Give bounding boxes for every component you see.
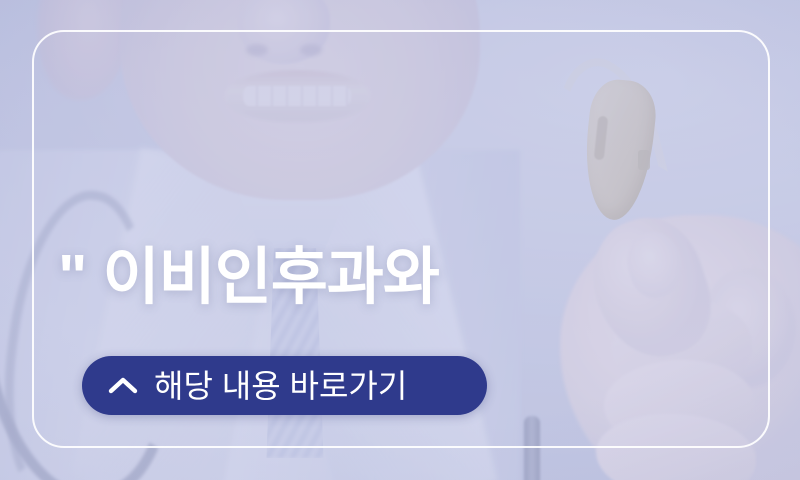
headline-line-1: " 이비인후과와 [58, 234, 758, 322]
go-to-content-button[interactable]: 해당 내용 바로가기 [82, 356, 487, 415]
page-title: " 이비인후과와 보청기 센터의 모든 것 " [58, 58, 758, 480]
go-to-content-label: 해당 내용 바로가기 [154, 370, 407, 402]
chevron-up-icon [108, 376, 138, 396]
hero-banner: " 이비인후과와 보청기 센터의 모든 것 " 해당 내용 바로가기 [0, 0, 800, 480]
